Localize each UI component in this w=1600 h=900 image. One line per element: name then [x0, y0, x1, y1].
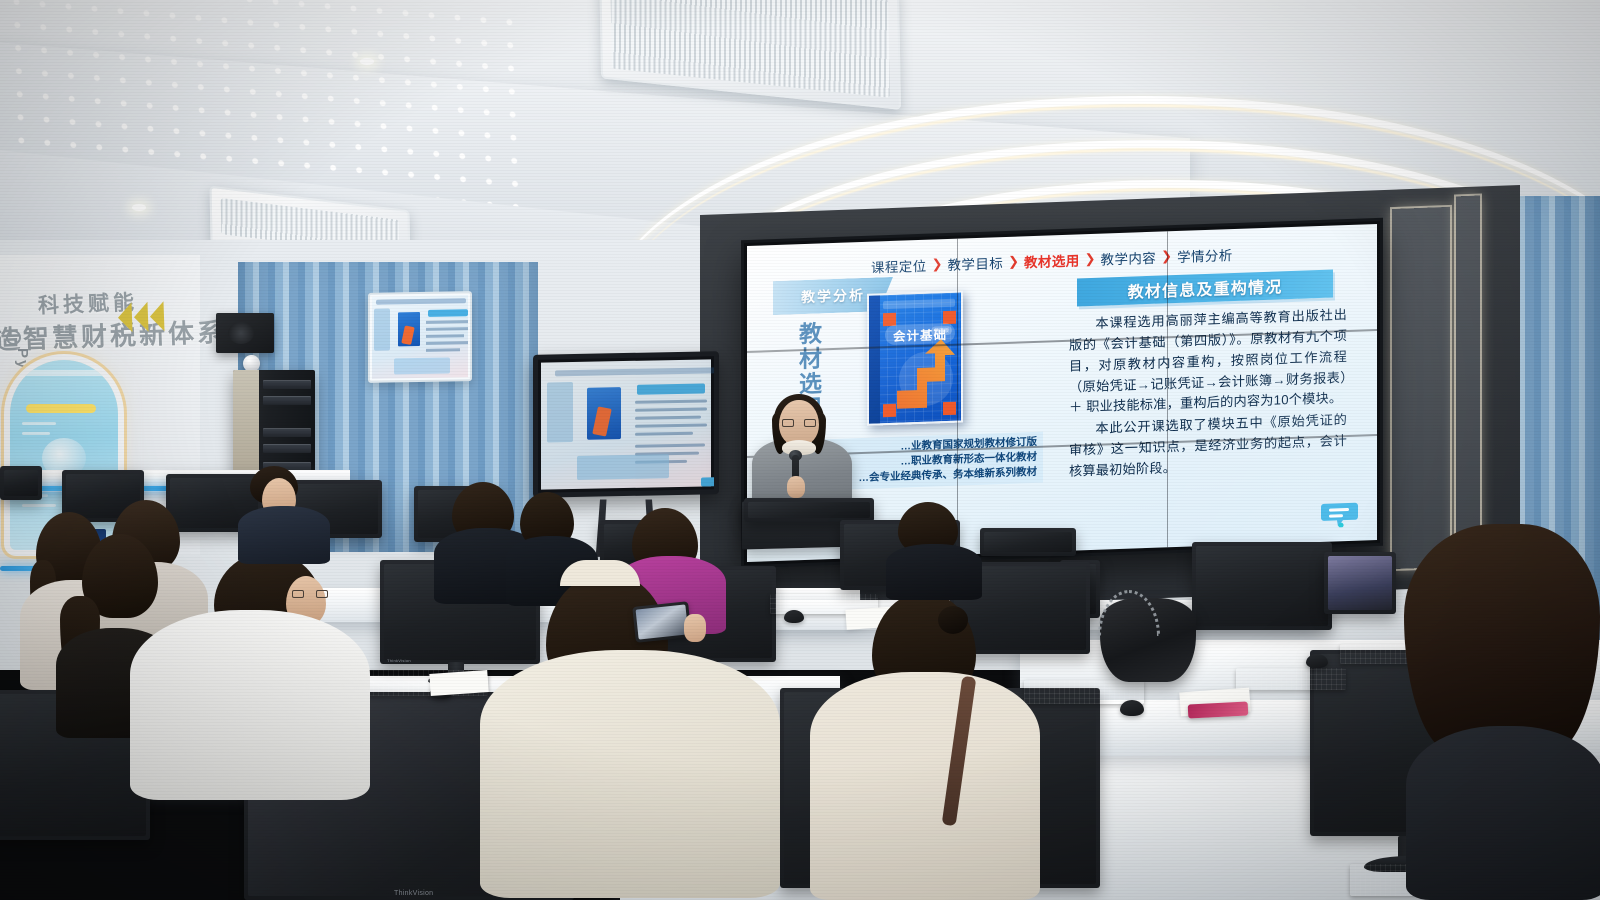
glasses-icon: [782, 419, 816, 427]
downlight-icon: [360, 58, 374, 65]
monitor: [980, 528, 1076, 556]
nav-item-2[interactable]: 教材选用: [1024, 249, 1080, 271]
monitor: [1324, 552, 1396, 614]
mouse[interactable]: [1306, 654, 1328, 668]
triple-chevron-left-icon: [117, 301, 164, 333]
mouse[interactable]: [784, 610, 804, 623]
hair-bun: [938, 606, 968, 634]
paper-sheet: [429, 670, 488, 696]
classroom-photo-scene: 科技赋能 造智慧财税新体系 Python企业财务应用 税智慧站: [0, 0, 1600, 900]
monitor: [744, 498, 874, 522]
circle-icon: [6, 330, 21, 345]
wall-speaker-icon: [216, 313, 274, 353]
textbook-edition-badge: 第四版: [931, 326, 952, 336]
panel-paragraph-2: 本此公开课选取了模块五中《原始凭证的审核》这一知识点，是经济业务的起点，会计核算…: [1069, 410, 1347, 482]
speech-bubble-logo-icon: [1321, 501, 1361, 528]
panel-heading: 教材信息及重构情况: [1077, 270, 1333, 307]
kiosk-highlight-bar: [26, 404, 96, 413]
headband: [560, 560, 640, 586]
smartphone-recording[interactable]: [632, 601, 691, 643]
nav-item-0[interactable]: 课程定位: [871, 255, 927, 277]
arrow-up-graphic-icon: [895, 337, 957, 413]
glasses-icon: [292, 590, 328, 598]
chevron-right-icon: ❯: [1008, 254, 1019, 270]
chevron-right-icon: ❯: [1085, 251, 1096, 267]
downlight-icon: [132, 204, 146, 211]
monitor: [1192, 542, 1332, 630]
left-mirror-display: [368, 291, 472, 383]
chevron-right-icon: ❯: [932, 256, 943, 272]
nav-item-3[interactable]: 教学内容: [1101, 247, 1157, 269]
panel-paragraph-1: 本课程选用高丽萍主编高等教育出版社出版的《会计基础（第四版）》。原教材有九个项目…: [1069, 305, 1347, 419]
textbook-cover-image: 会计基础 第四版: [867, 290, 963, 425]
keyboard[interactable]: [1236, 668, 1346, 690]
mouse[interactable]: [1120, 700, 1144, 716]
monitor: [0, 466, 42, 500]
wall-light-panel: [1392, 207, 1450, 569]
nav-item-4[interactable]: 学情分析: [1177, 244, 1233, 266]
wall-light-panel: [1456, 196, 1480, 577]
secondary-tv-display: [533, 351, 719, 498]
